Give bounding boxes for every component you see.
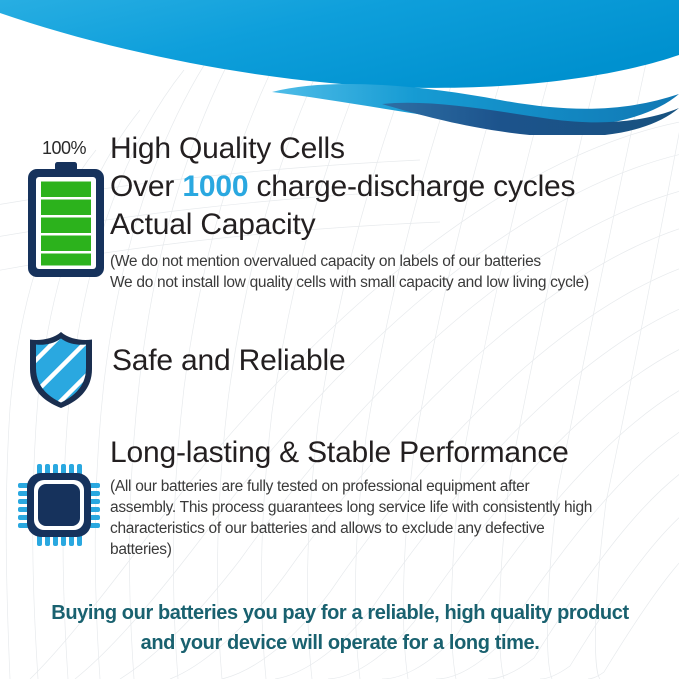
feature-1-body: (We do not mention overvalued capacity o… [110, 251, 670, 293]
feature-3-body-line-2: assembly. This process guarantees long s… [110, 497, 658, 518]
cycles-suffix: charge-discharge cycles [248, 170, 575, 203]
chip-icon-group [18, 464, 100, 546]
feature-3-body-line-1: (All our batteries are fully tested on p… [110, 476, 658, 497]
footer-line-1: Buying our batteries you pay for a relia… [20, 598, 660, 628]
cycles-prefix: Over [110, 170, 182, 203]
feature-3-body-line-3: characteristics of our batteries and all… [110, 518, 658, 539]
feature-3-text-block: Long-lasting & Stable Performance (All o… [110, 432, 658, 560]
feature-1-body-line-2: We do not install low quality cells with… [110, 272, 670, 293]
product-feature-infographic: 100% High Quality Cells [0, 0, 679, 679]
feature-1-heading-1: High Quality Cells [110, 128, 670, 170]
feature-1-body-line-1: (We do not mention overvalued capacity o… [110, 251, 670, 272]
feature-3-heading: Long-lasting & Stable Performance [110, 432, 658, 474]
feature-3-body: (All our batteries are fully tested on p… [110, 476, 658, 560]
battery-percent-label: 100% [18, 138, 110, 159]
feature-2-heading: Safe and Reliable [112, 340, 672, 382]
shield-icon [26, 330, 96, 408]
footer-line-2: and your device will operate for a long … [20, 628, 660, 658]
footer-tagline: Buying our batteries you pay for a relia… [20, 598, 660, 658]
feature-list: 100% High Quality Cells [0, 0, 679, 679]
feature-1-text-block: High Quality Cells Over 1000 charge-disc… [110, 128, 670, 293]
feature-1-heading-3: Actual Capacity [110, 204, 670, 246]
cpu-chip-icon [18, 464, 100, 546]
feature-2-text-block: Safe and Reliable [112, 340, 672, 382]
battery-icon-group: 100% [18, 138, 110, 288]
feature-1-heading-2: Over 1000 charge-discharge cycles [110, 166, 670, 208]
feature-3-body-line-4: batteries) [110, 539, 658, 560]
cycles-count: 1000 [182, 170, 248, 203]
shield-icon-group [26, 330, 96, 408]
battery-full-icon [26, 162, 106, 280]
